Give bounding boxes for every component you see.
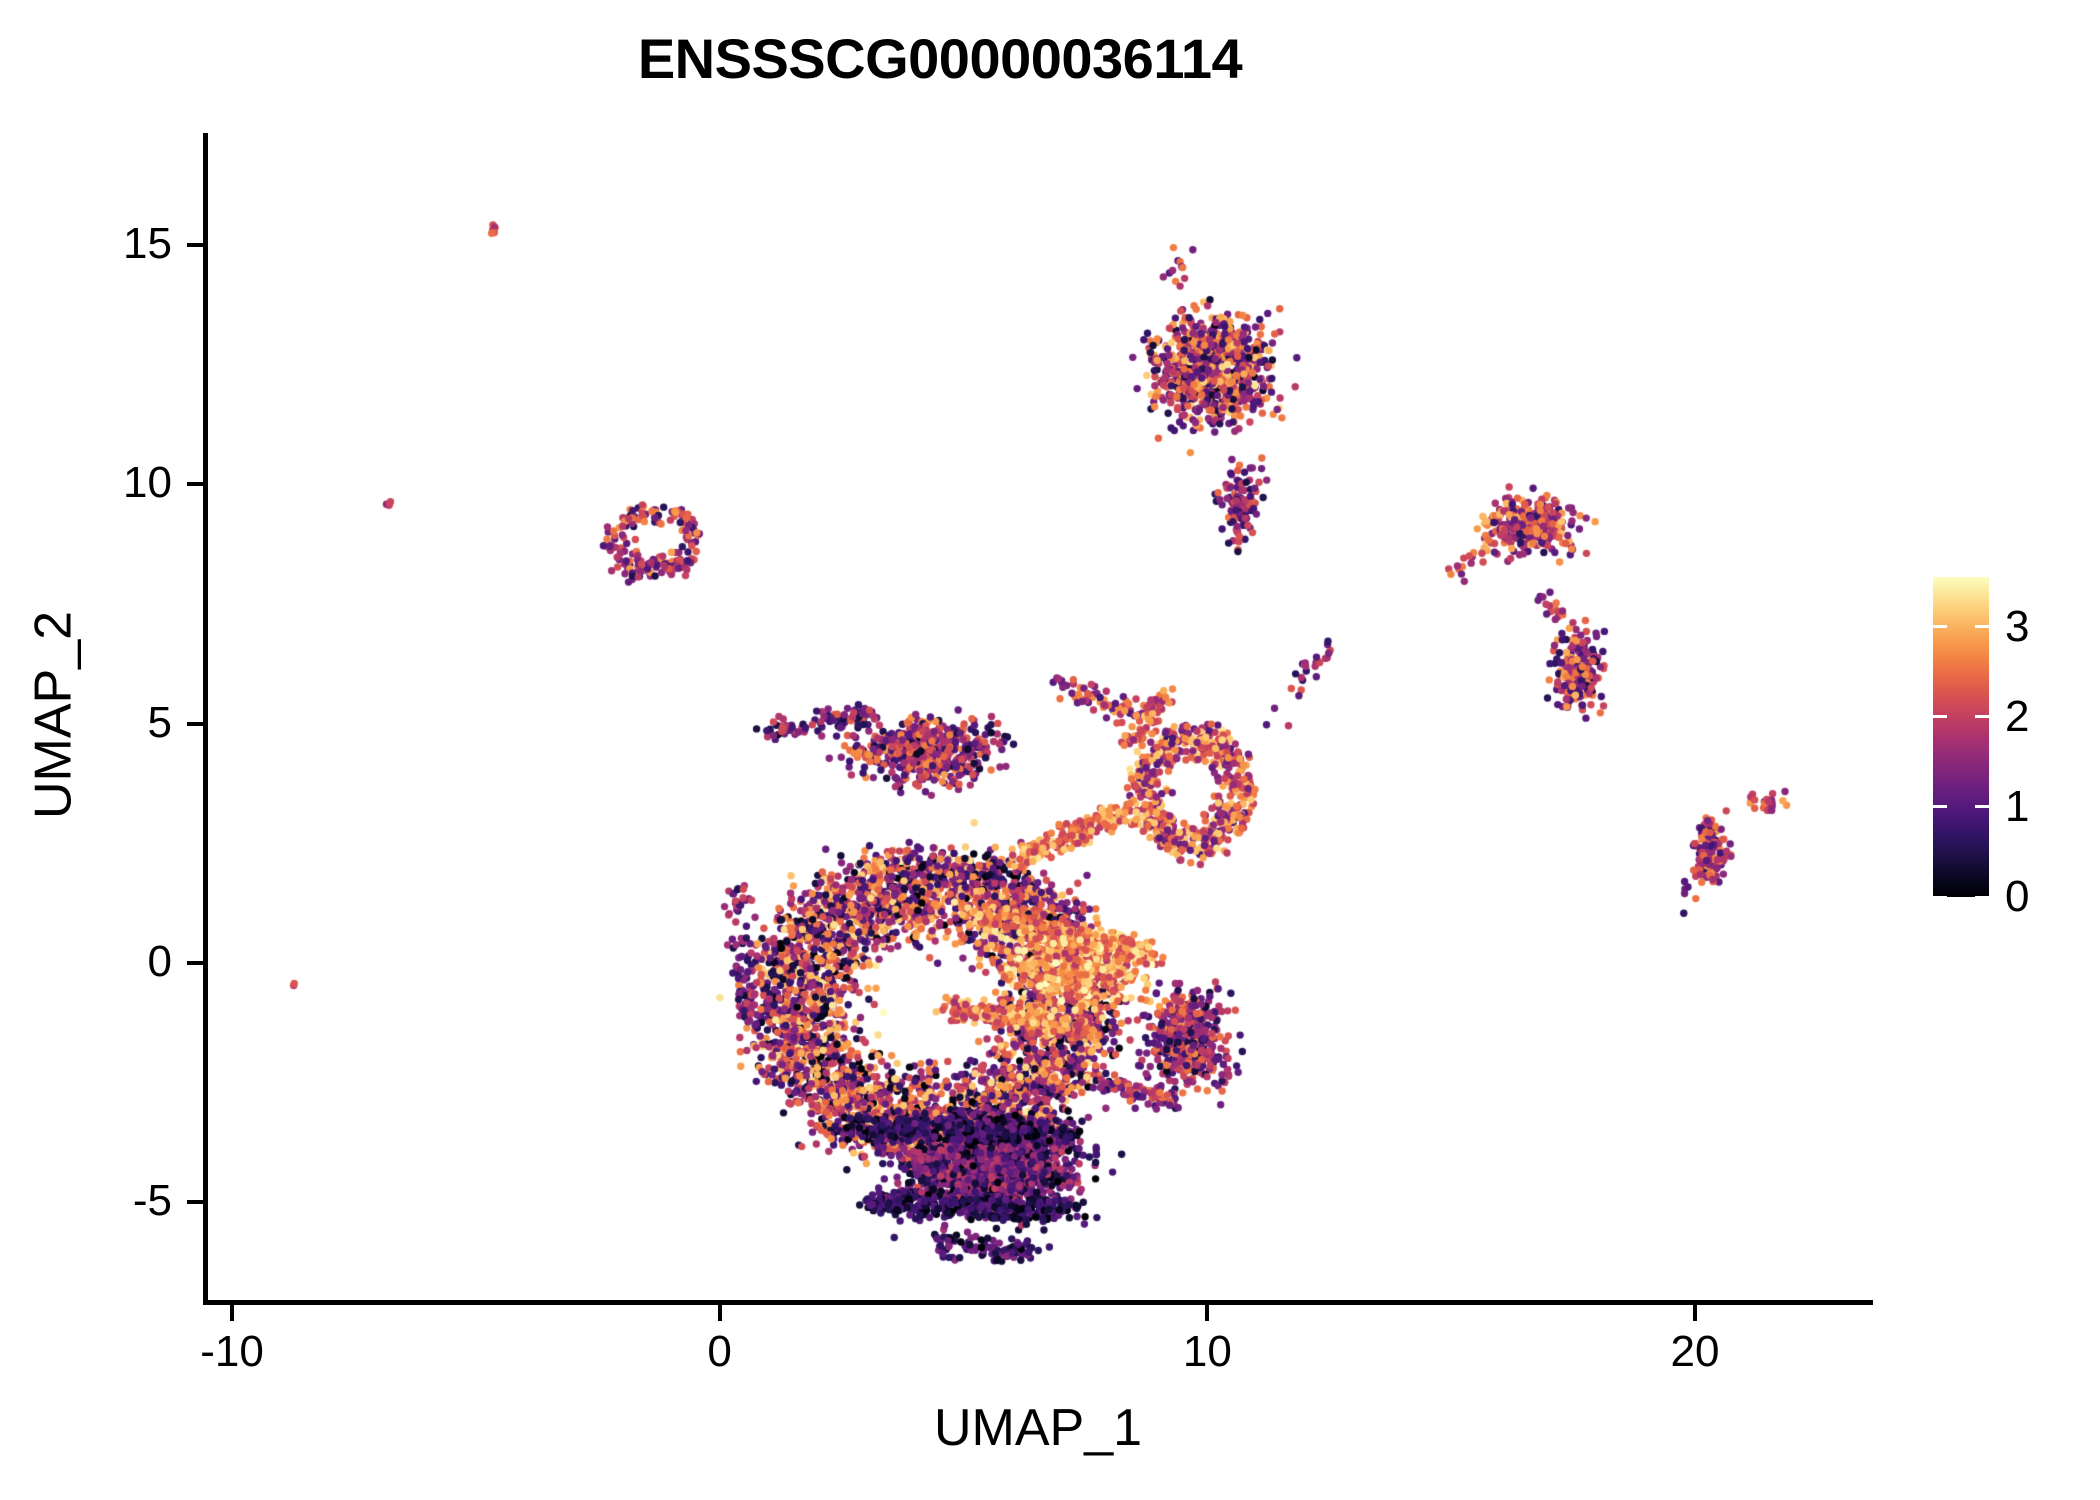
colorbar-gradient: [1933, 577, 1989, 897]
x-tick-label: 20: [1595, 1327, 1795, 1377]
x-tick-mark: [1693, 1305, 1697, 1321]
umap-feature-plot: ENSSSCG00000036114 -5051015 -1001020 UMA…: [0, 0, 2100, 1500]
x-tick-label: 0: [620, 1327, 820, 1377]
y-tick-mark: [187, 961, 203, 965]
y-tick-mark: [187, 243, 203, 247]
x-axis-line: [203, 1300, 1873, 1305]
x-tick-label: -10: [132, 1327, 332, 1377]
colorbar-tick-label: 0: [2005, 875, 2029, 919]
scatter-canvas: [205, 135, 1871, 1302]
colorbar-tick-label: 2: [2005, 695, 2029, 739]
x-tick-label: 10: [1107, 1327, 1307, 1377]
y-axis-line: [203, 133, 208, 1305]
x-tick-mark: [1205, 1305, 1209, 1321]
y-tick-mark: [187, 1200, 203, 1204]
y-tick-mark: [187, 722, 203, 726]
x-axis-title: UMAP_1: [205, 1398, 1871, 1458]
x-tick-mark: [718, 1305, 722, 1321]
color-legend: 0123: [1933, 577, 2093, 899]
colorbar-tick-label: 1: [2005, 785, 2029, 829]
y-tick-mark: [187, 482, 203, 486]
colorbar-tick-label: 3: [2005, 605, 2029, 649]
page-title: ENSSSCG00000036114: [0, 26, 1880, 91]
x-tick-mark: [230, 1305, 234, 1321]
plot-panel: [205, 135, 1871, 1302]
y-axis-title: UMAP_2: [24, 132, 84, 1299]
